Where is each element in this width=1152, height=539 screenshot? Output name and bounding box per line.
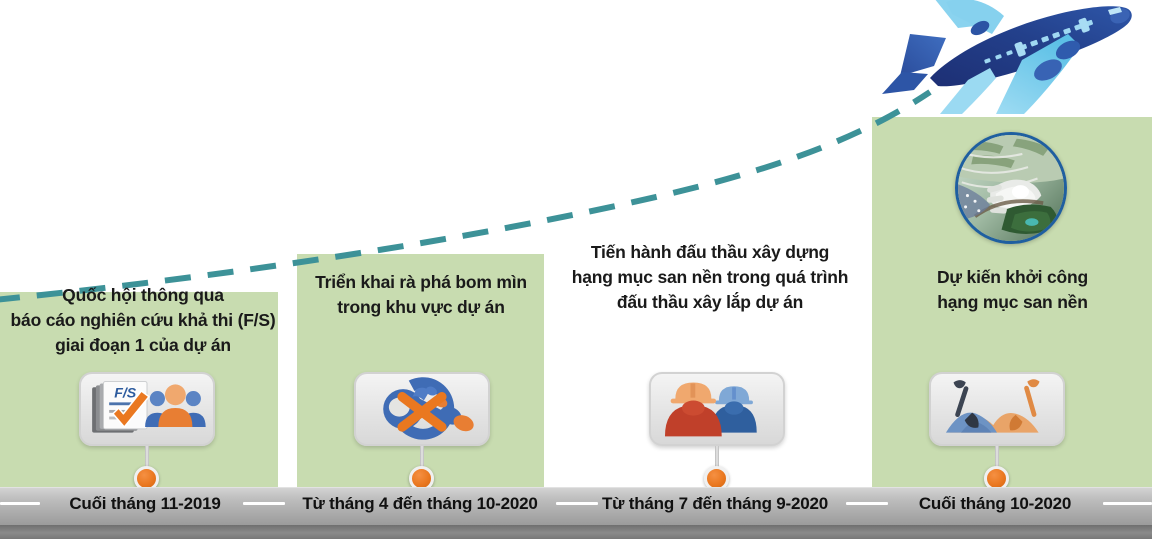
milestone-title-4: Dự kiến khởi công hạng mục san nền [875, 265, 1150, 315]
fs-label: F/S [114, 386, 137, 402]
timeline-date-label-3: Từ tháng 7 đến tháng 9-2020 [590, 494, 840, 514]
milestone-title-line: Dự kiến khởi công [875, 265, 1150, 290]
infographic-canvas: Quốc hội thông qua báo cáo nghiên cứu kh… [0, 0, 1152, 539]
milestone-title-2: Triển khai rà phá bom mìn trong khu vực … [300, 270, 542, 320]
timeline-separator [243, 502, 285, 505]
milestone-title-line: hạng mục san nền [875, 290, 1150, 315]
milestone-title-line: Triển khai rà phá bom mìn [300, 270, 542, 295]
construction-workers-icon [649, 372, 785, 446]
milestone-title-line: Tiến hành đấu thầu xây dựng [560, 240, 860, 265]
timeline-bar-shadow [0, 525, 1152, 539]
airport-terminal-aerial-render [955, 132, 1067, 244]
milestone-title-line: trong khu vực dự án [300, 295, 542, 320]
milestone-title-line: Quốc hội thông qua [8, 283, 278, 308]
documents-feasibility-study-approval-icon: F/S [79, 372, 215, 446]
timeline-date-label-1: Cuối tháng 11-2019 [45, 494, 245, 514]
milestone-title-line: đấu thầu xây lắp dự án [560, 290, 860, 315]
timeline-separator [0, 502, 40, 505]
shovels-earthworks-icon [929, 372, 1065, 446]
mine-clearance-icon [354, 372, 490, 446]
timeline-date-label-2: Từ tháng 4 đến tháng 10-2020 [285, 494, 555, 514]
milestone-title-3: Tiến hành đấu thầu xây dựng hạng mục san… [560, 240, 860, 315]
timeline-date-label-4: Cuối tháng 10-2020 [895, 494, 1095, 514]
timeline-separator [846, 502, 888, 505]
milestone-title-line: báo cáo nghiên cứu khả thi (F/S) [8, 308, 278, 333]
milestone-title-line: giai đoạn 1 của dự án [8, 333, 278, 358]
airplane-takeoff-icon [872, 0, 1152, 114]
timeline-separator [1103, 502, 1152, 505]
milestone-title-1: Quốc hội thông qua báo cáo nghiên cứu kh… [8, 283, 278, 358]
milestone-title-line: hạng mục san nền trong quá trình [560, 265, 860, 290]
